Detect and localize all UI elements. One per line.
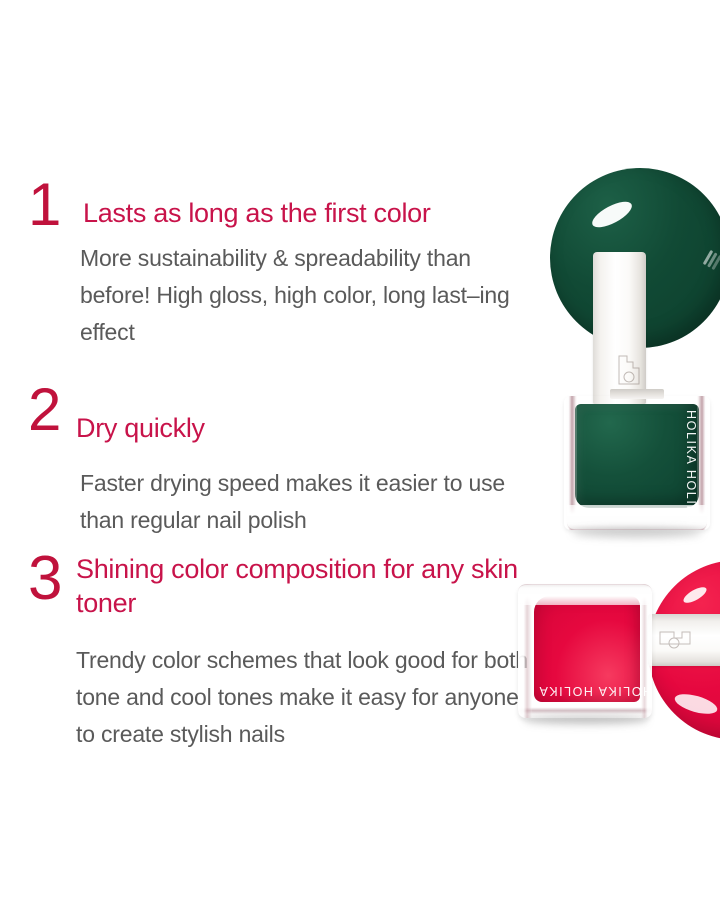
gloss-streak-icon — [703, 250, 714, 265]
gloss-highlight-icon — [681, 584, 709, 606]
feature-3-header: 3 Shining color composition for any skin… — [28, 548, 528, 620]
pink-bottle-brand-label: HOLIKA HOLIKA — [538, 684, 652, 698]
cap-print-mark-icon — [615, 350, 643, 390]
feature-1-header: 1 Lasts as long as the first color — [28, 178, 528, 230]
feature-2-number: 2 — [28, 381, 60, 439]
feature-1-number: 1 — [28, 176, 60, 234]
feature-3-body: Trendy color schemes that look good for … — [28, 620, 528, 753]
pink-bottle-base — [518, 584, 652, 605]
product-image-green-polish: HOLIKA HOLIKA — [516, 168, 720, 568]
gloss-highlight-icon — [589, 197, 636, 233]
pink-bottle-shadow — [524, 716, 648, 725]
feature-2-heading: Dry quickly — [28, 385, 528, 445]
pink-bottle-cap — [648, 614, 720, 666]
gloss-streak-icon — [673, 690, 720, 718]
green-bottle-neck — [610, 389, 664, 399]
green-bottle-brand-label: HOLIKA HOLIKA — [684, 410, 698, 496]
pink-polish-bottle: HOLIKA HOLIKA — [518, 584, 652, 718]
green-polish-bottle: HOLIKA HOLIKA — [564, 396, 710, 530]
feature-item-3: 3 Shining color composition for any skin… — [28, 548, 528, 753]
green-polish-liquid — [575, 404, 699, 508]
feature-2-body: Faster drying speed makes it easier to u… — [28, 445, 528, 539]
feature-2-header: 2 Dry quickly — [28, 385, 528, 445]
product-image-pink-polish: HOLIKA HOLIKA — [500, 552, 720, 752]
feature-item-1: 1 Lasts as long as the first color More … — [28, 178, 528, 351]
cap-print-mark-icon — [654, 624, 694, 652]
feature-1-body: More sustainability & spreadability than… — [28, 230, 528, 351]
feature-list: 1 Lasts as long as the first color More … — [0, 0, 540, 922]
feature-3-number: 3 — [28, 550, 61, 608]
feature-item-2: 2 Dry quickly Faster drying speed makes … — [28, 385, 528, 539]
page-canvas: 1 Lasts as long as the first color More … — [0, 0, 720, 922]
feature-1-heading: Lasts as long as the first color — [28, 178, 528, 230]
feature-3-heading: Shining color composition for any skin t… — [28, 548, 528, 620]
green-bottle-cap — [593, 252, 646, 404]
green-bottle-shadow — [572, 528, 702, 538]
